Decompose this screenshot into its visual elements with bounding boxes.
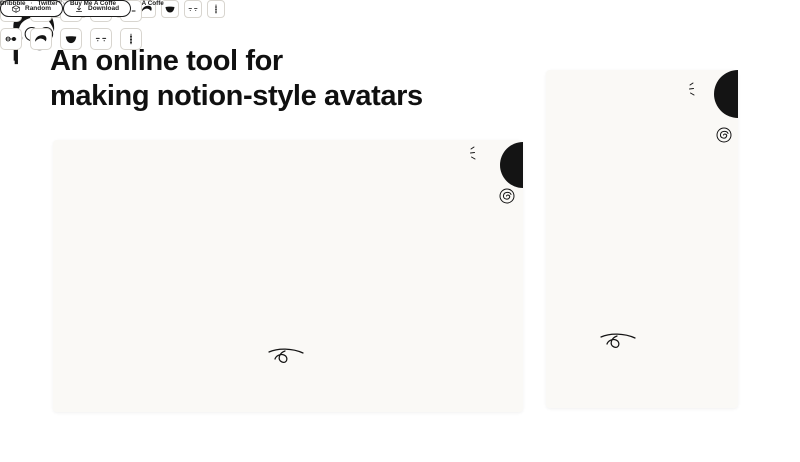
style-tile-beard[interactable]: [60, 28, 82, 50]
footer-link-dribbble[interactable]: Dribbble: [0, 0, 26, 7]
half-circle-decoration: [710, 70, 738, 118]
sparkle-decoration: [469, 146, 483, 162]
desktop-app-card: [53, 140, 523, 412]
accessory-icon: [210, 3, 222, 15]
style-tile-accessory[interactable]: [120, 28, 142, 50]
beard-icon: [164, 3, 176, 15]
half-circle-decoration: [492, 142, 523, 188]
accessory-icon: [124, 32, 138, 46]
loop-squiggle-decoration: [268, 347, 306, 369]
footer-mobile[interactable]: Dribbble·Twitter·Buy Me A Coffe: [0, 0, 116, 7]
footer-link-twitter[interactable]: Twitter: [38, 0, 58, 7]
loop-squiggle-decoration: [600, 332, 638, 354]
footer-link-buy-me-a-coffe[interactable]: Buy Me A Coffe: [70, 0, 116, 7]
style-tile-eyebrows[interactable]: [184, 0, 202, 18]
spiral-decoration: [499, 188, 515, 204]
mobile-app-card: [546, 70, 738, 408]
glasses-icon: [4, 32, 18, 46]
style-tile-hair[interactable]: [30, 28, 52, 50]
eyebrows-icon: [187, 3, 199, 15]
sparkle-decoration: [688, 82, 702, 98]
eyebrows-icon: [94, 32, 108, 46]
style-tile-eyebrows[interactable]: [90, 28, 112, 50]
style-tile-accessory[interactable]: [207, 0, 225, 18]
page-title: An online tool for making notion-style a…: [50, 44, 520, 114]
beard-icon: [64, 32, 78, 46]
page-title-line-2: making notion-style avatars: [50, 79, 520, 114]
footer-separator: ·: [63, 0, 65, 7]
footer-separator: ·: [31, 0, 33, 7]
style-tile-glasses[interactable]: [0, 28, 22, 50]
spiral-decoration: [716, 127, 732, 143]
hair-icon: [34, 32, 48, 46]
